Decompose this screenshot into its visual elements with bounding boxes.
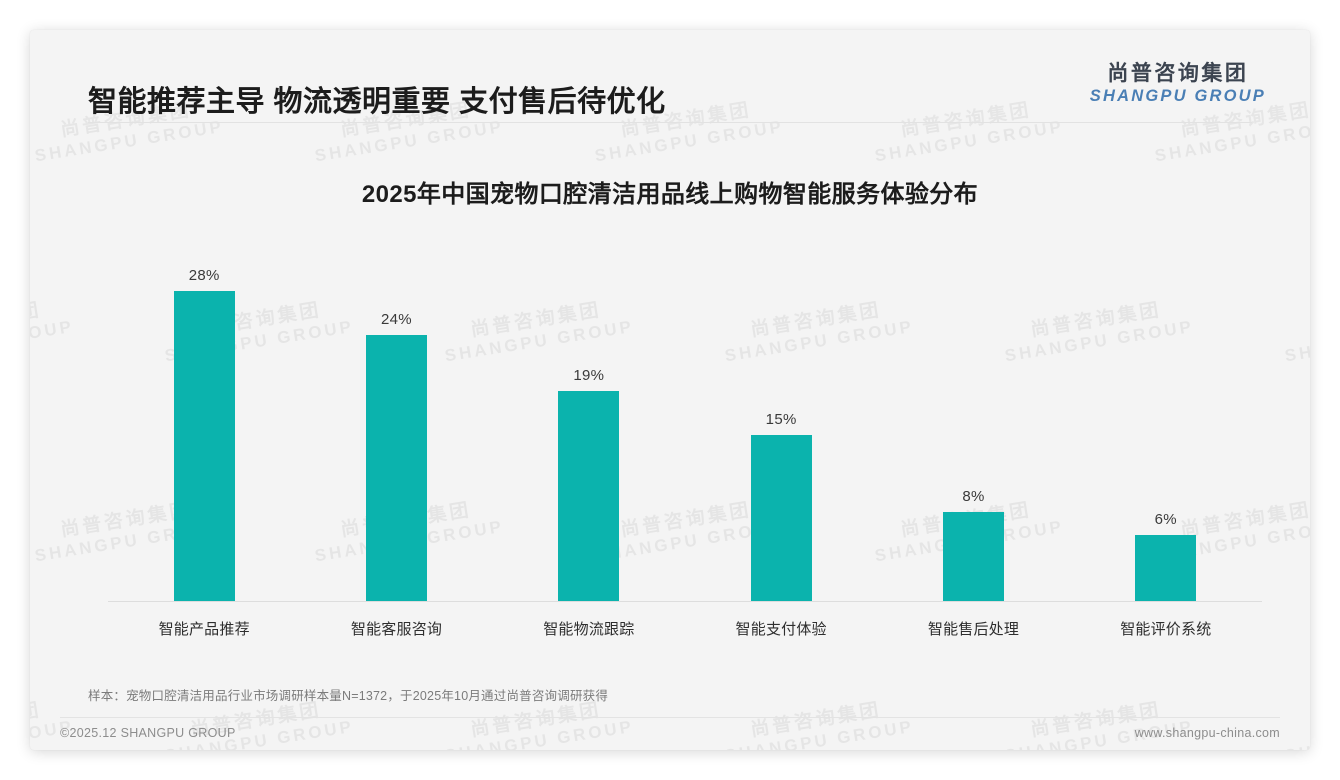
x-axis-tick-label: 智能产品推荐 [108, 603, 300, 639]
brand-logo: 尚普咨询集团 SHANGPU GROUP [1090, 62, 1266, 106]
bar-rect[interactable] [1135, 535, 1196, 601]
bar-value-label: 19% [573, 367, 604, 384]
chart-plot-area: 28%24%19%15%8%6% 智能产品推荐智能客服咨询智能物流跟踪智能支付体… [78, 232, 1262, 602]
header-divider [88, 122, 1252, 123]
x-axis-labels: 智能产品推荐智能客服咨询智能物流跟踪智能支付体验智能售后处理智能评价系统 [108, 603, 1262, 639]
x-axis-tick-label: 智能评价系统 [1070, 603, 1262, 639]
bar-item[interactable]: 6% [1070, 232, 1262, 601]
brand-logo-cn: 尚普咨询集团 [1090, 62, 1266, 86]
bar-rect[interactable] [174, 291, 235, 601]
slide-footer: ©2025.12 SHANGPU GROUP www.shangpu-china… [30, 718, 1310, 750]
bar-series: 28%24%19%15%8%6% [108, 232, 1262, 601]
x-axis-tick-label: 智能物流跟踪 [493, 603, 685, 639]
x-axis-tick-label: 智能客服咨询 [300, 603, 492, 639]
bar-rect[interactable] [366, 335, 427, 601]
bar-item[interactable]: 19% [493, 232, 685, 601]
page-title: 智能推荐主导 物流透明重要 支付售后待优化 [88, 78, 666, 120]
bar-value-label: 15% [766, 411, 797, 428]
bar-value-label: 28% [189, 267, 220, 284]
copyright-text: ©2025.12 SHANGPU GROUP [60, 726, 236, 740]
bar-item[interactable]: 24% [300, 232, 492, 601]
bar-rect[interactable] [558, 391, 619, 601]
x-axis-tick-label: 智能支付体验 [685, 603, 877, 639]
bar-value-label: 24% [381, 311, 412, 328]
bar-item[interactable]: 15% [685, 232, 877, 601]
chart-title: 2025年中国宠物口腔清洁用品线上购物智能服务体验分布 [30, 174, 1310, 209]
bar-rect[interactable] [943, 512, 1004, 601]
chart-container: 2025年中国宠物口腔清洁用品线上购物智能服务体验分布 28%24%19%15%… [30, 122, 1310, 667]
brand-logo-en: SHANGPU GROUP [1090, 87, 1266, 107]
bar-value-label: 6% [1155, 511, 1177, 528]
x-axis-tick-label: 智能售后处理 [877, 603, 1069, 639]
bar-value-label: 8% [962, 488, 984, 505]
bar-item[interactable]: 8% [877, 232, 1069, 601]
bar-item[interactable]: 28% [108, 232, 300, 601]
slide-header: 智能推荐主导 物流透明重要 支付售后待优化 尚普咨询集团 SHANGPU GRO… [30, 30, 1310, 122]
slide-card: 尚普咨询集团SHANGPU GROUP尚普咨询集团SHANGPU GROUP尚普… [30, 30, 1310, 750]
bar-rect[interactable] [751, 435, 812, 601]
website-url: www.shangpu-china.com [1135, 726, 1280, 740]
chart-footnote: 样本：宠物口腔清洁用品行业市场调研样本量N=1372，于2025年10月通过尚普… [88, 685, 608, 704]
x-axis-line [108, 601, 1262, 602]
